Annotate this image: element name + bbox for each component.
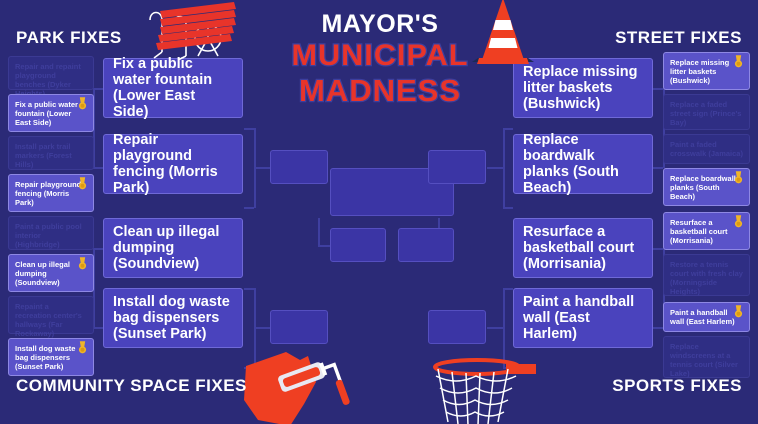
medal-ribbon-icon (78, 257, 87, 270)
bracket-winner-right-r2-1[interactable]: Replace missing litter baskets (Bushwick… (513, 58, 653, 118)
bracket-entry-left-r1-3[interactable]: Install park trail markers (Forest Hills… (8, 136, 94, 170)
bracket-entry-left-r1-8[interactable]: Install dog waste bag dispensers (Sunset… (8, 338, 94, 376)
bracket-line (93, 88, 103, 90)
bracket-line (503, 367, 513, 369)
bracket-line (254, 327, 270, 329)
bracket-entry-label: Replace missing litter baskets (Bushwick… (670, 58, 729, 85)
bracket-entry-right-r1-3[interactable]: Paint a faded crosswalk (Jamaica) (663, 134, 750, 164)
title-line-municipal: MUNICIPAL (278, 41, 482, 71)
bracket-line (254, 167, 270, 169)
bracket-line (244, 288, 254, 290)
bracket-winner-left-r2-4[interactable]: Install dog waste bag dispensers (Sunset… (103, 288, 243, 348)
bracket-entry-right-r1-1[interactable]: Replace missing litter baskets (Bushwick… (663, 52, 750, 90)
bracket-entry-right-r1-4[interactable]: Replace boardwalk planks (South Beach) (663, 168, 750, 206)
bracket-entry-label: Paint a handball wall (East Harlem) (670, 308, 735, 326)
bracket-entry-label: Fix a public water fountain (Lower East … (15, 100, 78, 127)
medal-ribbon-icon (78, 341, 87, 354)
title-line-madness: MADNESS (280, 75, 480, 106)
bracket-entry-label: Replace boardwalk planks (South Beach) (670, 174, 738, 201)
bracket-line (93, 248, 103, 250)
medal-ribbon-icon (78, 97, 87, 110)
bracket-entry-left-r1-2[interactable]: Fix a public water fountain (Lower East … (8, 94, 94, 132)
bracket-line (503, 128, 513, 130)
bracket-entry-label: Repair playground fencing (Morris Park) (15, 180, 81, 207)
bracket-line (503, 288, 513, 290)
bracket-winner-right-r2-4[interactable]: Paint a handball wall (East Harlem) (513, 288, 653, 348)
bracket-line (653, 248, 663, 250)
bracket-entry-left-r1-7[interactable]: Repaint a recreation center's hallways (… (8, 296, 94, 334)
basketball-hoop-icon (432, 350, 538, 424)
bracket-entry-right-r1-7[interactable]: Paint a handball wall (East Harlem) (663, 302, 750, 332)
bracket-line (93, 167, 103, 169)
bracket-entry-left-r1-5[interactable]: Paint a public pool interior (Highbridge… (8, 216, 94, 250)
medal-ribbon-icon (734, 305, 743, 318)
bracket-entry-right-r1-6[interactable]: Restore a tennis court with fresh clay (… (663, 254, 750, 296)
medal-ribbon-icon (734, 171, 743, 184)
bracket-line (93, 327, 103, 329)
page-title: MAYOR'S MUNICIPAL MADNESS (280, 6, 480, 106)
bracket-entry-label: Resurface a basketball court (Morrisania… (670, 218, 728, 245)
bracket-entry-right-r1-5[interactable]: Resurface a basketball court (Morrisania… (663, 212, 750, 250)
title-line-mayors: MAYOR'S (280, 12, 480, 37)
bracket-line (244, 128, 254, 130)
bracket-line (653, 88, 663, 90)
bracket-winner-left-r2-3[interactable]: Clean up illegal dumping (Soundview) (103, 218, 243, 278)
bracket-line (487, 327, 503, 329)
bracket-winner-left-r2-1[interactable]: Fix a public water fountain (Lower East … (103, 58, 243, 118)
bracket-slot-left-r3-1[interactable] (270, 150, 328, 184)
bracket-winner-right-r2-3[interactable]: Resurface a basketball court (Morrisania… (513, 218, 653, 278)
municipal-madness-bracket: PARK FIXES STREET FIXES COMMUNITY SPACE … (0, 0, 758, 424)
bracket-slot-left-r3-2[interactable] (270, 310, 328, 344)
medal-ribbon-icon (734, 55, 743, 68)
bracket-entry-right-r1-2[interactable]: Replace a faded street sign (Prince's Ba… (663, 94, 750, 130)
bracket-slot-right-r3-2[interactable] (428, 310, 486, 344)
bracket-line (244, 207, 254, 209)
section-label-community: COMMUNITY SPACE FIXES (16, 376, 247, 396)
bracket-entry-label: Clean up illegal dumping (Soundview) (15, 260, 70, 287)
bracket-slot-center-semi-1[interactable] (330, 228, 386, 262)
bracket-winner-right-r2-2[interactable]: Replace boardwalk planks (South Beach) (513, 134, 653, 194)
bracket-winner-left-r2-2[interactable]: Repair playground fencing (Morris Park) (103, 134, 243, 194)
section-label-park: PARK FIXES (16, 28, 122, 48)
bracket-line (487, 167, 503, 169)
bracket-line (503, 128, 505, 208)
bracket-slot-right-r3-1[interactable] (428, 150, 486, 184)
medal-ribbon-icon (78, 177, 87, 190)
bracket-line (244, 367, 254, 369)
bracket-line (653, 327, 663, 329)
section-label-sports: SPORTS FIXES (612, 376, 742, 396)
bracket-line (503, 207, 513, 209)
section-label-street: STREET FIXES (615, 28, 742, 48)
park-bench-icon (138, 0, 250, 60)
bracket-line (503, 288, 505, 368)
bracket-entry-left-r1-1[interactable]: Repair and repaint playground benches (D… (8, 56, 94, 90)
bracket-entry-right-r1-8[interactable]: Replace windscreens at a tennis court (S… (663, 336, 750, 378)
bracket-entry-label: Install dog waste bag dispensers (Sunset… (15, 344, 75, 371)
bracket-entry-left-r1-4[interactable]: Repair playground fencing (Morris Park) (8, 174, 94, 212)
bracket-line (653, 167, 663, 169)
bracket-entry-left-r1-6[interactable]: Clean up illegal dumping (Soundview) (8, 254, 94, 292)
medal-ribbon-icon (734, 215, 743, 228)
bracket-slot-center-semi-2[interactable] (398, 228, 454, 262)
bracket-line (318, 218, 320, 246)
